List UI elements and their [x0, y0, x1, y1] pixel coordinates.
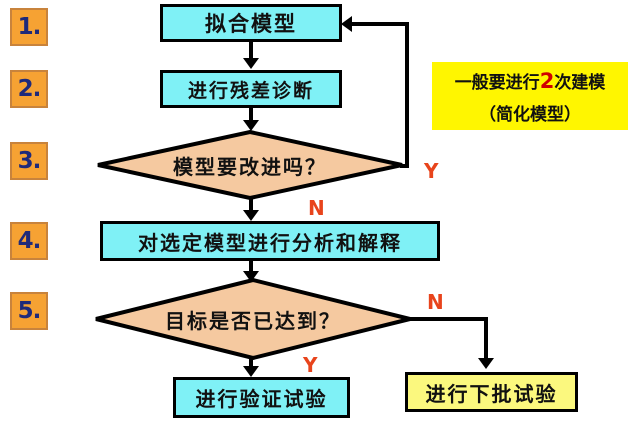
node-residual-diagnosis[interactable]: 进行残差诊断: [160, 70, 342, 108]
node-next-batch-experiment[interactable]: 进行下批试验: [405, 372, 578, 412]
step-chip-5: 5.: [10, 292, 48, 330]
connector-decision2-no-vertical: [484, 317, 488, 361]
arrowhead-fit-to-residual: [243, 58, 259, 69]
node-analyze-interpret[interactable]: 对选定模型进行分析和解释: [100, 221, 440, 261]
note-accent-number: 2: [540, 69, 555, 93]
step-chip-2: 2.: [10, 70, 48, 108]
branch-label-improve-no: N: [308, 198, 325, 218]
arrowhead-feedback-to-fit-model: [341, 16, 352, 32]
branch-label-improve-yes: Y: [424, 161, 438, 181]
arrowhead-decision1-to-analyze: [243, 210, 259, 221]
step-chip-1: 1.: [10, 8, 48, 46]
node-goal-decision[interactable]: 目标是否已达到？: [93, 278, 413, 360]
branch-label-goal-no: N: [427, 292, 444, 312]
node-improve-decision[interactable]: 模型要改进吗？: [95, 130, 405, 200]
arrowhead-decision2-yes: [243, 366, 259, 377]
step-chip-3: 3.: [10, 142, 48, 180]
flowchart-canvas: 1. 2. 3. 4. 5. 拟合模型 进行残差诊断 模型要改进吗？ Y N 对…: [0, 0, 640, 428]
connector-decision2-no-horizontal: [408, 317, 488, 321]
arrowhead-decision2-no: [478, 358, 494, 369]
decision-diamond-shape-2: [93, 278, 413, 360]
connector-feedback-vertical: [405, 22, 409, 166]
connector-feedback-horizontal: [352, 22, 409, 26]
note-callout: 一般要进行2次建模 （简化模型）: [432, 62, 628, 130]
decision-diamond-shape: [95, 130, 405, 200]
connector-decision1-yes-stub: [400, 164, 409, 168]
node-verify-experiment[interactable]: 进行验证试验: [173, 377, 350, 418]
node-fit-model[interactable]: 拟合模型: [160, 4, 342, 42]
note-line-1-suffix: 次建模: [554, 73, 605, 93]
note-line-1: 一般要进行2次建模: [455, 68, 606, 93]
branch-label-goal-yes: Y: [303, 355, 317, 375]
note-line-1-prefix: 一般要进行: [455, 73, 540, 93]
step-chip-4: 4.: [10, 222, 48, 260]
note-line-2: （简化模型）: [479, 100, 581, 125]
